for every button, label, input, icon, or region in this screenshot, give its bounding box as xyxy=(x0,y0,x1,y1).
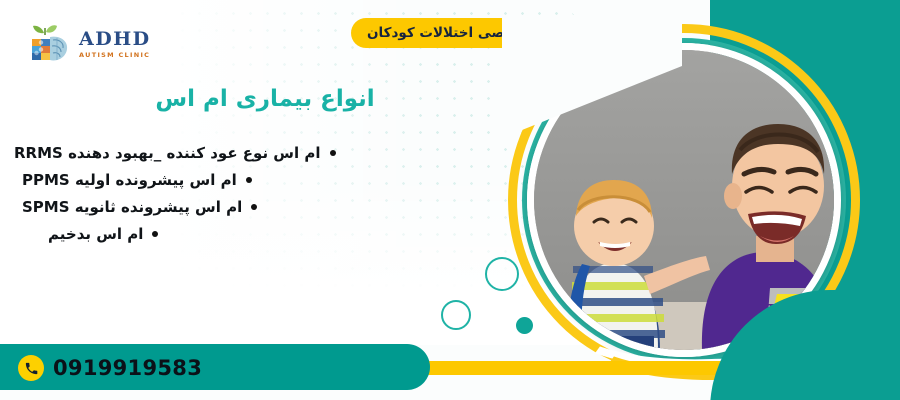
list-item: ام اس پیشرونده اولیه PPMS xyxy=(0,171,516,189)
list-item: ام اس پیشرونده ثانویه SPMS xyxy=(0,198,516,216)
decorative-ring xyxy=(441,300,471,330)
ms-types-list: ام اس نوع عود کننده _بهبود دهنده RRMS ام… xyxy=(0,144,516,252)
list-item-label: ام اس پیشرونده ثانویه SPMS xyxy=(22,198,242,216)
bullet-dot-icon xyxy=(152,231,158,237)
phone-number: 0919919583 xyxy=(53,356,202,380)
list-item: ام اس بدخیم xyxy=(0,225,516,243)
list-item-label: ام اس بدخیم xyxy=(48,225,143,243)
promo-banner: ADHD AUTISM CLINIC کلینیک تخصصی اختلالات… xyxy=(0,0,900,400)
page-title: انواع بیماری ام اس xyxy=(0,86,530,112)
brain-puzzle-plant-icon xyxy=(22,19,74,69)
logo-subtitle: AUTISM CLINIC xyxy=(79,52,151,59)
list-item-label: ام اس پیشرونده اولیه PPMS xyxy=(22,171,237,189)
list-item-label: ام اس نوع عود کننده _بهبود دهنده RRMS xyxy=(14,144,321,162)
bullet-dot-icon xyxy=(251,204,257,210)
phone-handset-icon xyxy=(18,355,44,381)
list-item: ام اس نوع عود کننده _بهبود دهنده RRMS xyxy=(0,144,516,162)
contact-phone[interactable]: 0919919583 xyxy=(18,355,202,381)
bullet-dot-icon xyxy=(330,150,336,156)
clinic-logo[interactable]: ADHD AUTISM CLINIC xyxy=(22,18,142,70)
logo-title: ADHD xyxy=(79,30,151,49)
bullet-dot-icon xyxy=(246,177,252,183)
